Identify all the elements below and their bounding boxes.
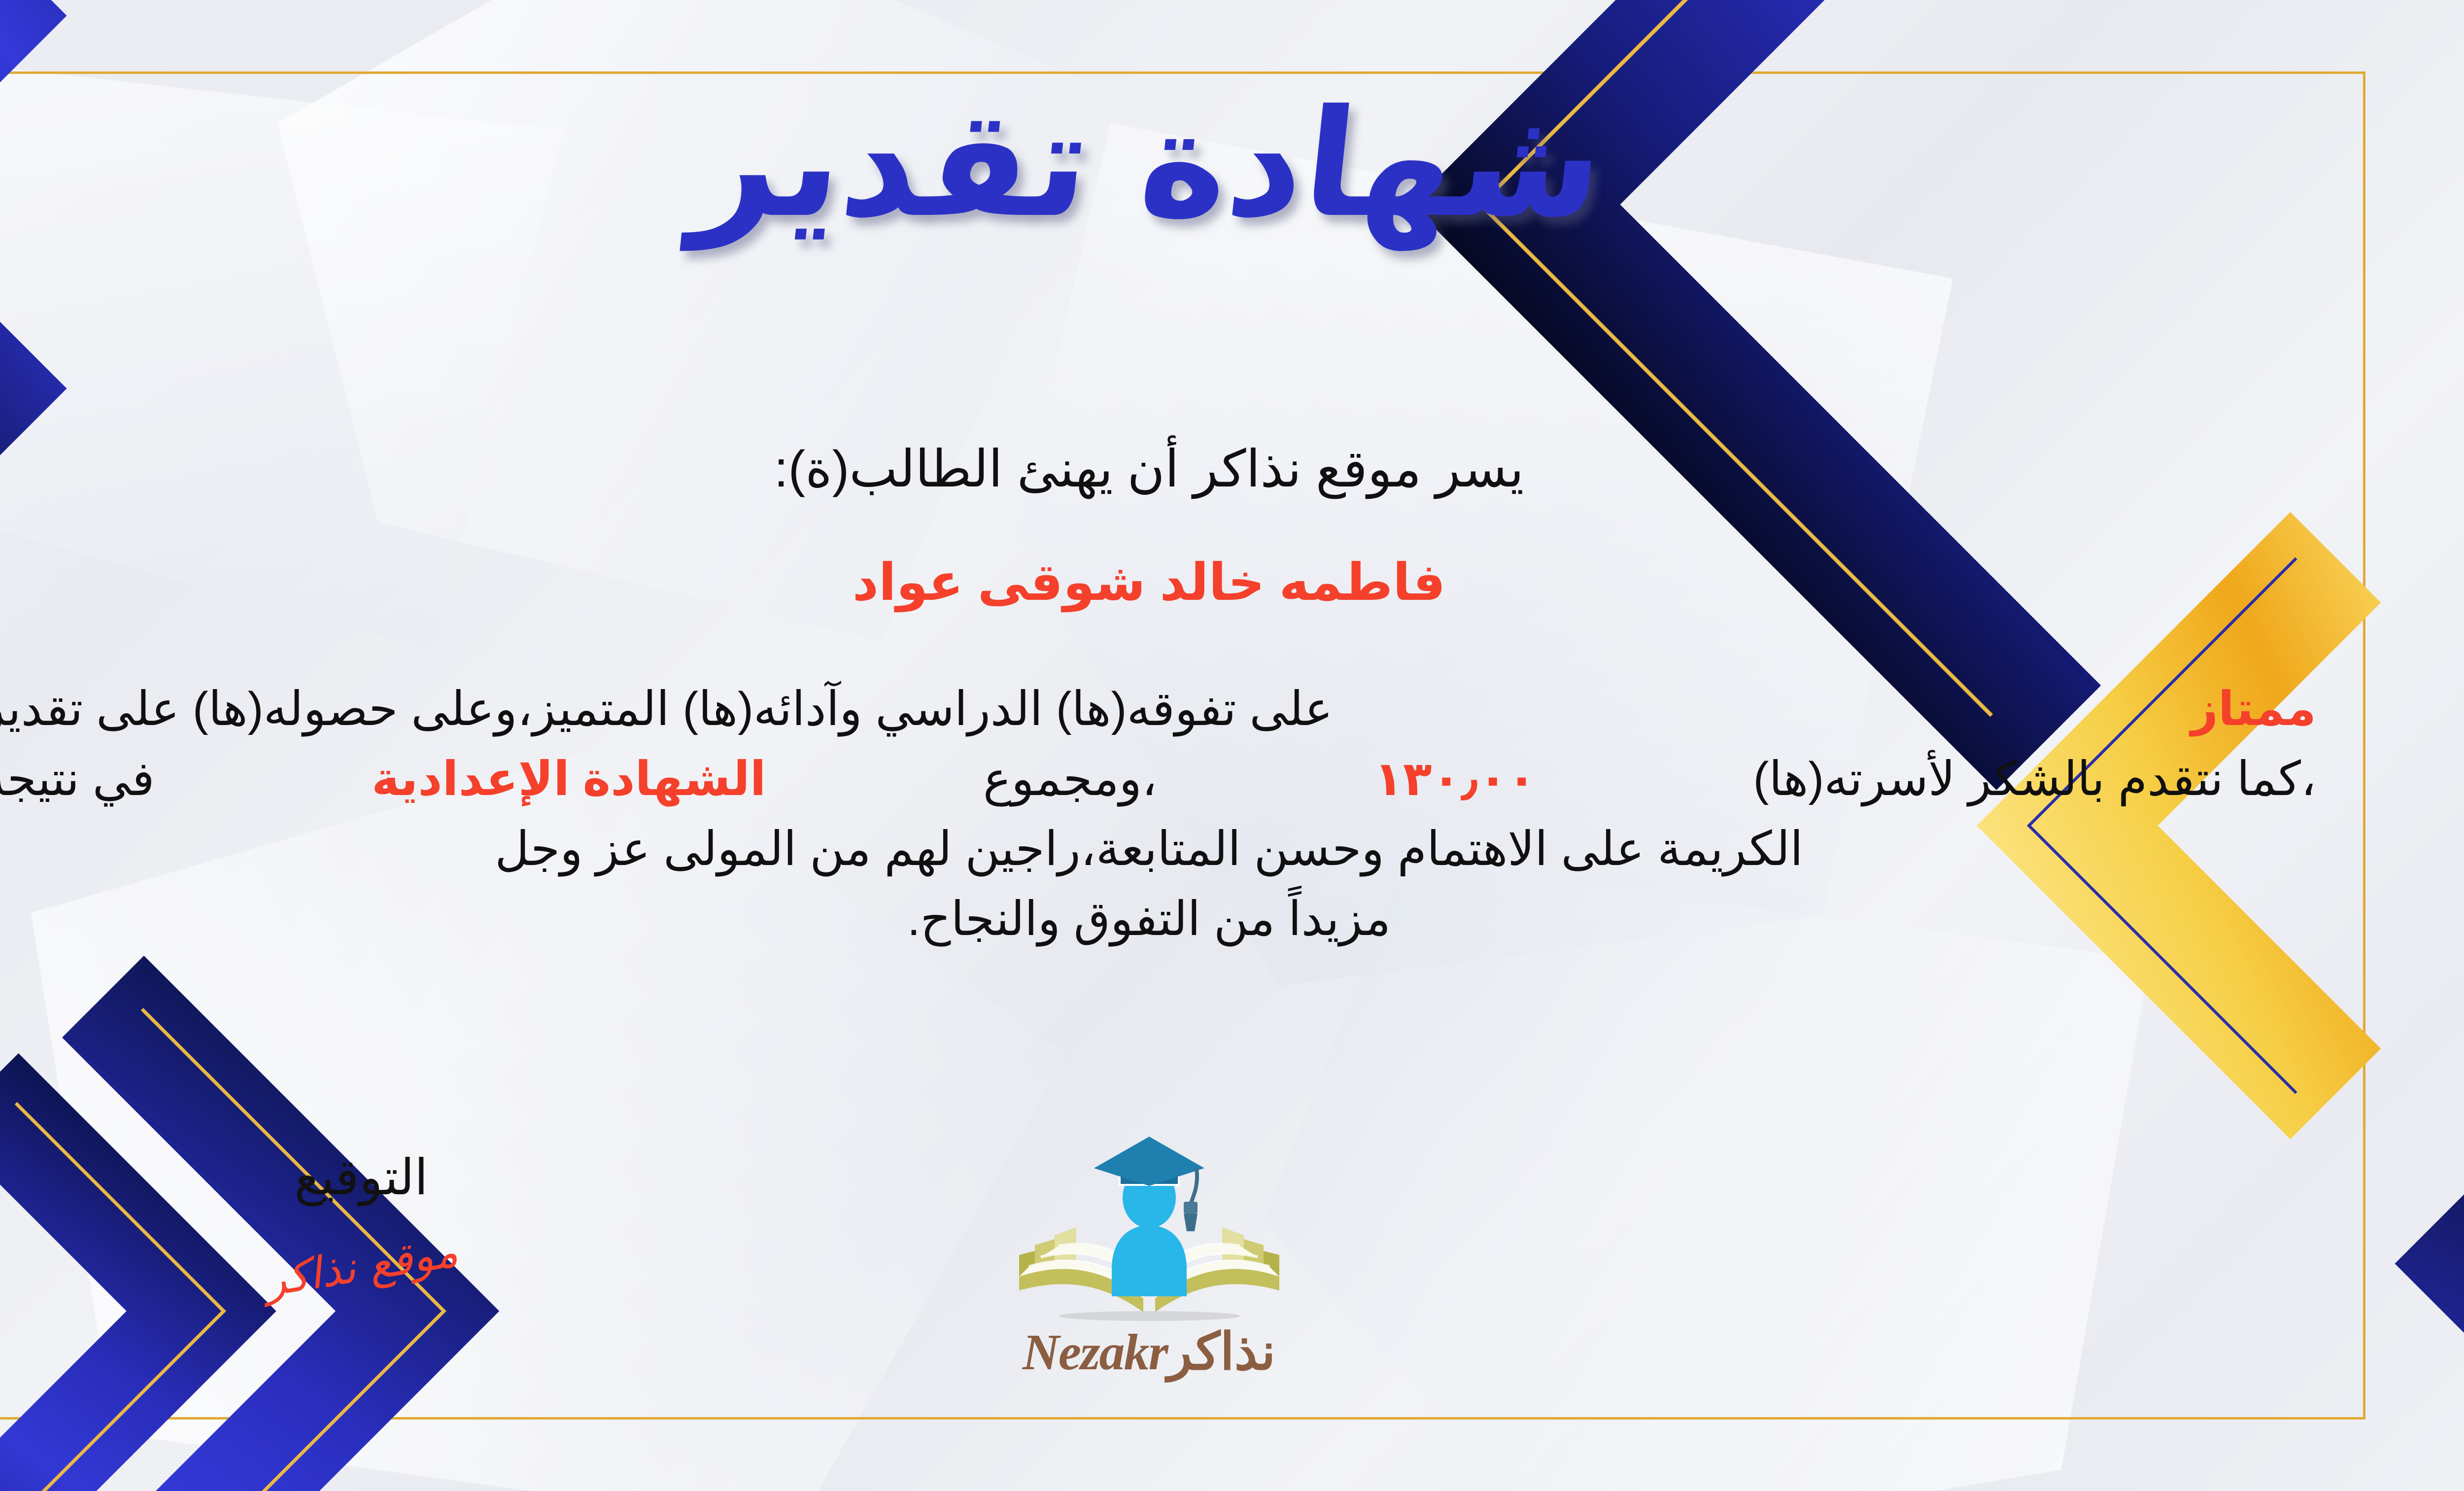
- tassel-fringe: [1184, 1214, 1198, 1231]
- signature-block: التوقيع موقع نذاكر: [208, 1148, 514, 1291]
- logo-latin: Nezakr: [1023, 1324, 1167, 1381]
- body-line-4: مزيداً من التفوق والنجاح.: [0, 884, 2316, 954]
- body-line-2-head: في نتيجة: [0, 744, 155, 814]
- body-line-1: ممتاز على تفوقه(ها) الدراسي وآدائه(ها) ا…: [0, 674, 2316, 744]
- certificate-body: ممتاز على تفوقه(ها) الدراسي وآدائه(ها) ا…: [0, 674, 2316, 954]
- graduate-on-open-book-icon: [1011, 1129, 1287, 1326]
- certificate-content: شهادة تقدير يسر موقع نذاكر أن يهنئ الطال…: [0, 0, 2464, 1491]
- certificate-page: شهادة تقدير يسر موقع نذاكر أن يهنئ الطال…: [0, 0, 2464, 1491]
- body-line-2-mid: ،ومجموع: [983, 744, 1157, 814]
- grade-value: ممتاز: [2191, 674, 2316, 744]
- mortarboard-top: [1094, 1137, 1204, 1186]
- total-score-value: ١٣٠٫٠٠: [1374, 744, 1536, 814]
- signature-label: التوقيع: [208, 1148, 514, 1206]
- logo-arabic: نذاكر: [1167, 1321, 1275, 1382]
- book-shadow: [1059, 1311, 1240, 1321]
- site-logo: نذاكرNezakr: [947, 1129, 1351, 1382]
- body-line-2: ،كما نتقدم بالشكر لأسرته(ها) ١٣٠٫٠٠ ،ومج…: [0, 744, 2316, 814]
- student-name: فاطمه خالد شوقى عواد: [0, 552, 2464, 612]
- greeting-text: يسر موقع نذاكر أن يهنئ الطالب(ة):: [0, 439, 2464, 499]
- tassel-cord: [1191, 1168, 1197, 1204]
- tassel-knot: [1184, 1202, 1198, 1214]
- body-line-1-text: على تفوقه(ها) الدراسي وآدائه(ها) المتميز…: [0, 674, 1333, 744]
- body-line-3: الكريمة على الاهتمام وحسن المتابعة،راجين…: [0, 814, 2316, 884]
- graduate-body: [1112, 1225, 1187, 1296]
- body-line-2-tail: ،كما نتقدم بالشكر لأسرته(ها): [1753, 744, 2316, 814]
- logo-wordmark: نذاكرNezakr: [947, 1321, 1351, 1382]
- exam-name-value: الشهادة الإعدادية: [372, 744, 766, 814]
- certificate-title: شهادة تقدير: [0, 79, 2464, 249]
- signature-mark: موقع نذاكر: [261, 1226, 461, 1307]
